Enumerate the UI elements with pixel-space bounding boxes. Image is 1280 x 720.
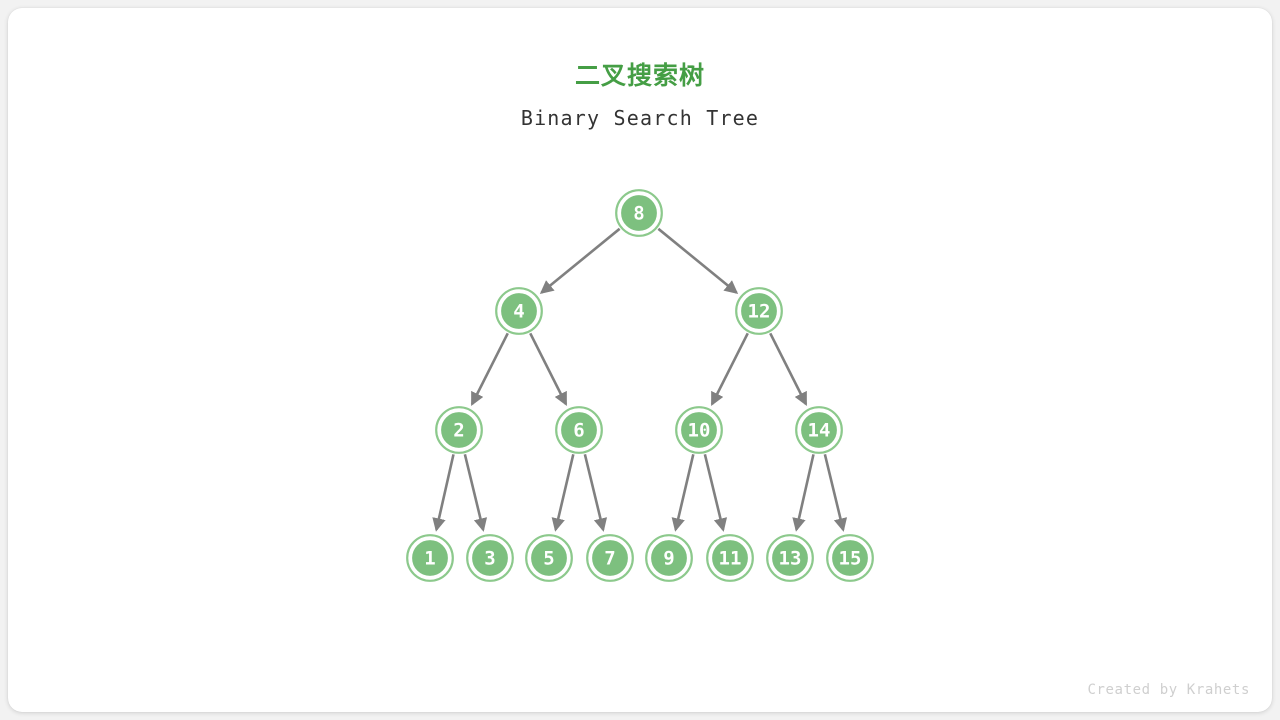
tree-edge-8-to-4 xyxy=(541,229,619,293)
tree-node-12[interactable]: 12 xyxy=(736,288,782,334)
node-value-label: 5 xyxy=(543,548,554,570)
node-value-label: 13 xyxy=(779,548,802,570)
tree-node-2[interactable]: 2 xyxy=(436,407,482,453)
tree-edge-6-to-5 xyxy=(556,454,574,529)
node-value-label: 9 xyxy=(663,548,674,570)
tree-edge-14-to-13 xyxy=(796,454,813,529)
tree-node-3[interactable]: 3 xyxy=(467,535,513,581)
tree-edge-10-to-11 xyxy=(705,454,723,530)
tree-edge-8-to-12 xyxy=(658,229,736,293)
node-value-label: 6 xyxy=(573,420,584,442)
tree-node-10[interactable]: 10 xyxy=(676,407,722,453)
tree-edge-10-to-9 xyxy=(676,454,694,529)
tree-node-6[interactable]: 6 xyxy=(556,407,602,453)
tree-edge-12-to-10 xyxy=(712,333,748,404)
tree-edge-2-to-3 xyxy=(465,454,483,530)
tree-node-1[interactable]: 1 xyxy=(407,535,453,581)
tree-edge-6-to-7 xyxy=(585,454,603,530)
credit-label: Created by Krahets xyxy=(1087,682,1250,698)
tree-node-14[interactable]: 14 xyxy=(796,407,842,453)
binary-search-tree-diagram: 841226101413579111315 xyxy=(0,0,1280,720)
tree-node-13[interactable]: 13 xyxy=(767,535,813,581)
page-root: 二叉搜索树 Binary Search Tree 841226101413579… xyxy=(0,0,1280,720)
tree-node-11[interactable]: 11 xyxy=(707,535,753,581)
node-value-label: 11 xyxy=(719,548,742,570)
tree-node-9[interactable]: 9 xyxy=(646,535,692,581)
node-value-label: 14 xyxy=(808,420,831,442)
tree-node-7[interactable]: 7 xyxy=(587,535,633,581)
node-value-label: 1 xyxy=(424,548,435,570)
node-value-label: 15 xyxy=(839,548,862,570)
tree-node-4[interactable]: 4 xyxy=(496,288,542,334)
tree-edge-12-to-14 xyxy=(770,333,806,404)
tree-edge-4-to-6 xyxy=(530,333,566,404)
tree-node-layer: 841226101413579111315 xyxy=(407,190,873,581)
tree-edge-layer xyxy=(436,229,843,530)
node-value-label: 12 xyxy=(748,301,771,323)
tree-edge-4-to-2 xyxy=(472,333,508,404)
tree-node-5[interactable]: 5 xyxy=(526,535,572,581)
tree-node-15[interactable]: 15 xyxy=(827,535,873,581)
node-value-label: 10 xyxy=(688,420,711,442)
tree-node-8[interactable]: 8 xyxy=(616,190,662,236)
node-value-label: 4 xyxy=(513,301,524,323)
node-value-label: 2 xyxy=(453,420,464,442)
tree-edge-2-to-1 xyxy=(436,454,453,529)
node-value-label: 3 xyxy=(484,548,495,570)
node-value-label: 7 xyxy=(604,548,615,570)
tree-edge-14-to-15 xyxy=(825,454,843,530)
node-value-label: 8 xyxy=(633,203,644,225)
